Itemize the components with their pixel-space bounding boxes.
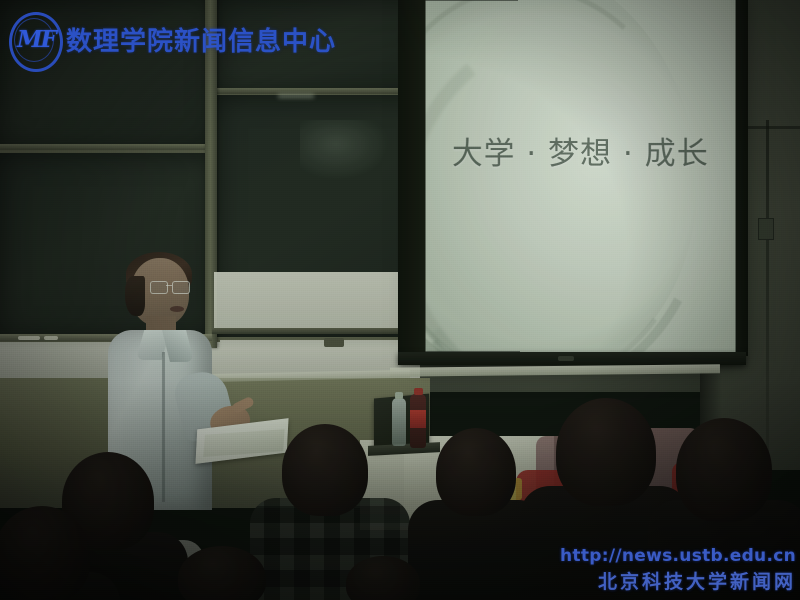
student-head bbox=[676, 418, 772, 522]
watermark-url: http://news.ustb.edu.cn bbox=[560, 546, 796, 566]
glasses-lens-left bbox=[150, 281, 168, 294]
slide-title-text: 大学 · 梦想 · 成长 bbox=[426, 128, 736, 173]
chalk-piece bbox=[18, 336, 40, 340]
cola-bottle bbox=[410, 394, 426, 448]
bottle-cap bbox=[395, 392, 403, 399]
blackboard-highlight bbox=[278, 94, 314, 98]
whiteboard-strip-edge bbox=[212, 328, 428, 334]
speaker-shirt-placket bbox=[162, 352, 165, 502]
speaker-glasses bbox=[150, 281, 192, 292]
pillar-edge bbox=[766, 120, 769, 470]
chalk-piece bbox=[44, 336, 58, 340]
projection-screen: 大学 · 梦想 · 成长 bbox=[426, 0, 736, 353]
student-head bbox=[0, 506, 90, 600]
bottle-cap bbox=[414, 388, 423, 395]
watermark-site-name: 北京科技大学新闻网 bbox=[560, 567, 796, 594]
blackboard-eraser bbox=[324, 338, 344, 347]
glasses-lens-right bbox=[172, 281, 190, 294]
blackboard-rail-right bbox=[212, 88, 428, 94]
speaker-hair-side bbox=[125, 276, 145, 316]
wall-socket bbox=[758, 218, 774, 240]
screen-right-shadow bbox=[734, 0, 748, 356]
bottle-label bbox=[410, 410, 426, 428]
watermark-top-left: MF 数理学院新闻信息中心 bbox=[6, 8, 296, 70]
student-head bbox=[282, 424, 368, 516]
student-head bbox=[556, 398, 656, 506]
blackboard-sheen bbox=[300, 120, 390, 180]
blackboard-panel-lower-left bbox=[0, 150, 220, 342]
water-bottle bbox=[392, 398, 406, 446]
lecture-hall-photo: 大学 · 梦想 · 成长 bbox=[0, 0, 800, 600]
screen-left-shadow bbox=[398, 0, 426, 356]
screen-pull-tab bbox=[558, 356, 574, 361]
speaker-mouth bbox=[170, 306, 184, 312]
logo-monogram: MF bbox=[17, 26, 55, 53]
student-head bbox=[436, 428, 516, 516]
watermark-bottom-right: http://news.ustb.edu.cn 北京科技大学新闻网 bbox=[560, 546, 796, 594]
blackboard-rail-left bbox=[0, 144, 212, 150]
whiteboard-strip bbox=[214, 272, 424, 330]
ustb-logo-icon: MF bbox=[6, 10, 60, 68]
watermark-department-text: 数理学院新闻信息中心 bbox=[66, 21, 336, 58]
glasses-bridge bbox=[166, 285, 172, 286]
